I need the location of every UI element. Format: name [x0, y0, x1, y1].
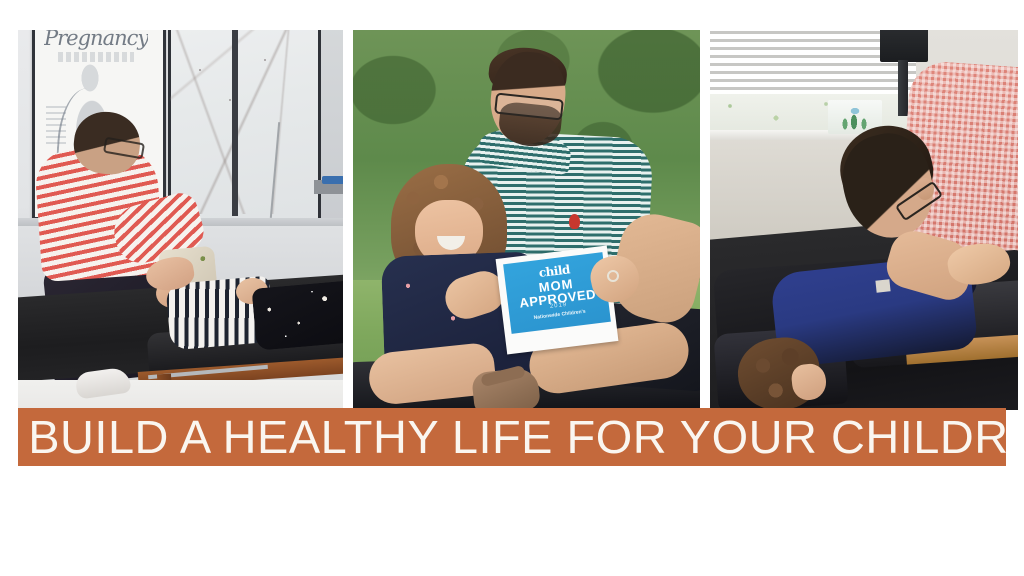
- window-mullion: [232, 30, 238, 216]
- infant-space-pants: [252, 279, 343, 351]
- poster-subtitle-lines: [58, 52, 134, 62]
- photo-strip: Pregnancy: [0, 0, 1024, 410]
- headline-text: BUILD A HEALTHY LIFE FOR YOUR CHILDREN: [18, 414, 1006, 460]
- photo-child-adjustment: [710, 30, 1018, 410]
- window-right-pane: [318, 30, 343, 224]
- child-shirt-tag: [875, 279, 890, 292]
- poster-text-column: [46, 106, 66, 146]
- bottom-whitespace: [0, 466, 1024, 576]
- photo-father-daughter-award: child MOM APPROVED 2019 Nationwide Child…: [353, 30, 700, 410]
- wall-monitor: [880, 30, 928, 62]
- monitor-mount-arm: [898, 60, 908, 116]
- polo-chest-logo: [569, 214, 580, 229]
- headline-banner: BUILD A HEALTHY LIFE FOR YOUR CHILDREN: [18, 408, 1006, 466]
- photo-infant-adjustment: Pregnancy: [18, 30, 343, 410]
- clinic-floor: [18, 380, 343, 410]
- wedding-ring: [607, 270, 619, 282]
- shelf-blue-object: [322, 176, 343, 184]
